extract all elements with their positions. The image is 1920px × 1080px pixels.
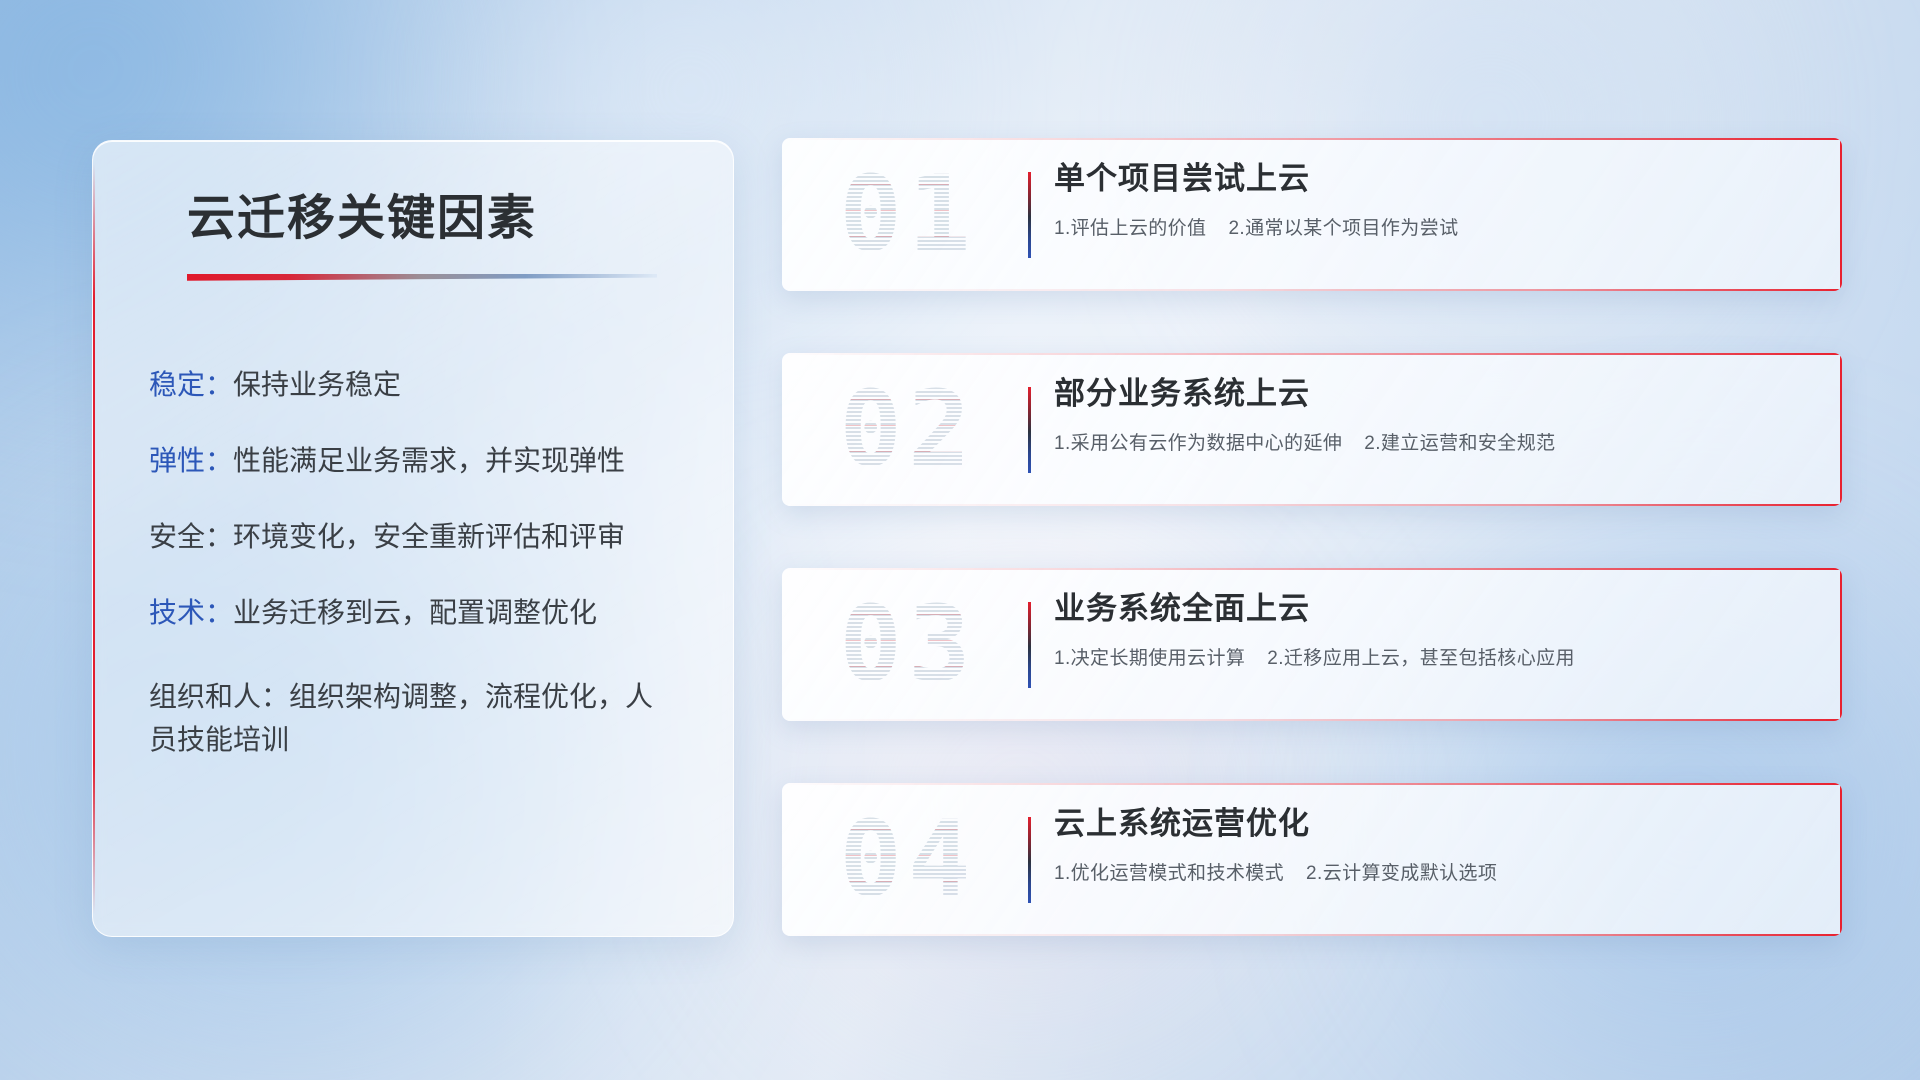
card-point-2: 2.建立运营和安全规范 — [1364, 433, 1555, 454]
card-point-2: 2.通常以某个项目作为尝试 — [1228, 218, 1458, 239]
card-divider-bar — [1028, 817, 1031, 903]
card-divider-bar — [1028, 172, 1031, 258]
list-item: 安全：环境变化，安全重新评估和评审 — [149, 523, 677, 551]
factor-label: 技术： — [149, 597, 233, 628]
card-bottom-accent-line — [782, 934, 1842, 936]
list-item: 技术：业务迁移到云，配置调整优化 — [149, 599, 677, 627]
factor-text: 环境变化，安全重新评估和评审 — [233, 521, 625, 552]
card-point-2: 2.云计算变成默认选项 — [1306, 863, 1497, 884]
card-title: 单个项目尝试上云 — [1054, 160, 1802, 199]
card-point-1: 1.优化运营模式和技术模式 — [1054, 863, 1284, 884]
list-item: 稳定：保持业务稳定 — [149, 371, 677, 399]
key-factors-list: 稳定：保持业务稳定 弹性：性能满足业务需求，并实现弹性 安全：环境变化，安全重新… — [149, 371, 677, 762]
stage-number-glitch-overlay: 03 — [808, 582, 1008, 706]
card-body: 业务系统全面上云 1.决定长期使用云计算2.迁移应用上云，甚至包括核心应用 — [1054, 590, 1802, 670]
card-subtitle: 1.评估上云的价值2.通常以某个项目作为尝试 — [1054, 213, 1802, 240]
card-title: 云上系统运营优化 — [1054, 805, 1802, 844]
card-top-accent-line — [782, 353, 1842, 355]
card-body: 部分业务系统上云 1.采用公有云作为数据中心的延伸2.建立运营和安全规范 — [1054, 375, 1802, 455]
stage-number-glitch-overlay: 01 — [808, 152, 1008, 276]
stage-card-02[interactable]: 02 02 部分业务系统上云 1.采用公有云作为数据中心的延伸2.建立运营和安全… — [782, 353, 1842, 506]
factor-label: 弹性： — [149, 445, 233, 476]
card-subtitle: 1.采用公有云作为数据中心的延伸2.建立运营和安全规范 — [1054, 428, 1802, 455]
stage-card-01[interactable]: 01 01 单个项目尝试上云 1.评估上云的价值2.通常以某个项目作为尝试 — [782, 138, 1842, 291]
factor-label: 组织和人： — [149, 681, 289, 712]
card-point-1: 1.评估上云的价值 — [1054, 218, 1206, 239]
card-top-accent-line — [782, 568, 1842, 570]
stage-card-03[interactable]: 03 03 业务系统全面上云 1.决定长期使用云计算2.迁移应用上云，甚至包括核… — [782, 568, 1842, 721]
factor-label: 安全： — [149, 521, 233, 552]
card-top-accent-line — [782, 138, 1842, 140]
stage-card-list: 01 01 单个项目尝试上云 1.评估上云的价值2.通常以某个项目作为尝试 02… — [782, 138, 1842, 998]
list-item: 组织和人：组织架构调整，流程优化，人员技能培训 — [149, 675, 677, 762]
card-subtitle: 1.决定长期使用云计算2.迁移应用上云，甚至包括核心应用 — [1054, 643, 1802, 670]
card-top-accent-line — [782, 783, 1842, 785]
factor-text: 业务迁移到云，配置调整优化 — [233, 597, 597, 628]
card-title: 部分业务系统上云 — [1054, 375, 1802, 414]
card-bottom-accent-line — [782, 719, 1842, 721]
page-title: 云迁移关键因素 — [187, 193, 677, 246]
factor-text: 性能满足业务需求，并实现弹性 — [233, 445, 625, 476]
card-divider-bar — [1028, 387, 1031, 473]
card-body: 云上系统运营优化 1.优化运营模式和技术模式2.云计算变成默认选项 — [1054, 805, 1802, 885]
card-body: 单个项目尝试上云 1.评估上云的价值2.通常以某个项目作为尝试 — [1054, 160, 1802, 240]
factor-label: 稳定： — [149, 369, 233, 400]
card-point-2: 2.迁移应用上云，甚至包括核心应用 — [1267, 648, 1575, 669]
card-bottom-accent-line — [782, 504, 1842, 506]
stage-number-glitch-overlay: 02 — [808, 367, 1008, 491]
list-item: 弹性：性能满足业务需求，并实现弹性 — [149, 447, 677, 475]
card-point-1: 1.决定长期使用云计算 — [1054, 648, 1245, 669]
stage-card-04[interactable]: 04 04 云上系统运营优化 1.优化运营模式和技术模式2.云计算变成默认选项 — [782, 783, 1842, 936]
card-subtitle: 1.优化运营模式和技术模式2.云计算变成默认选项 — [1054, 858, 1802, 885]
stage-number-glitch-overlay: 04 — [808, 797, 1008, 921]
card-title: 业务系统全面上云 — [1054, 590, 1802, 629]
factor-text: 保持业务稳定 — [233, 369, 401, 400]
key-factors-panel: 云迁移关键因素 稳定：保持业务稳定 弹性：性能满足业务需求，并实现弹性 安全：环… — [92, 140, 734, 937]
card-bottom-accent-line — [782, 289, 1842, 291]
title-underline-accent — [187, 274, 657, 281]
card-divider-bar — [1028, 602, 1031, 688]
card-point-1: 1.采用公有云作为数据中心的延伸 — [1054, 433, 1342, 454]
